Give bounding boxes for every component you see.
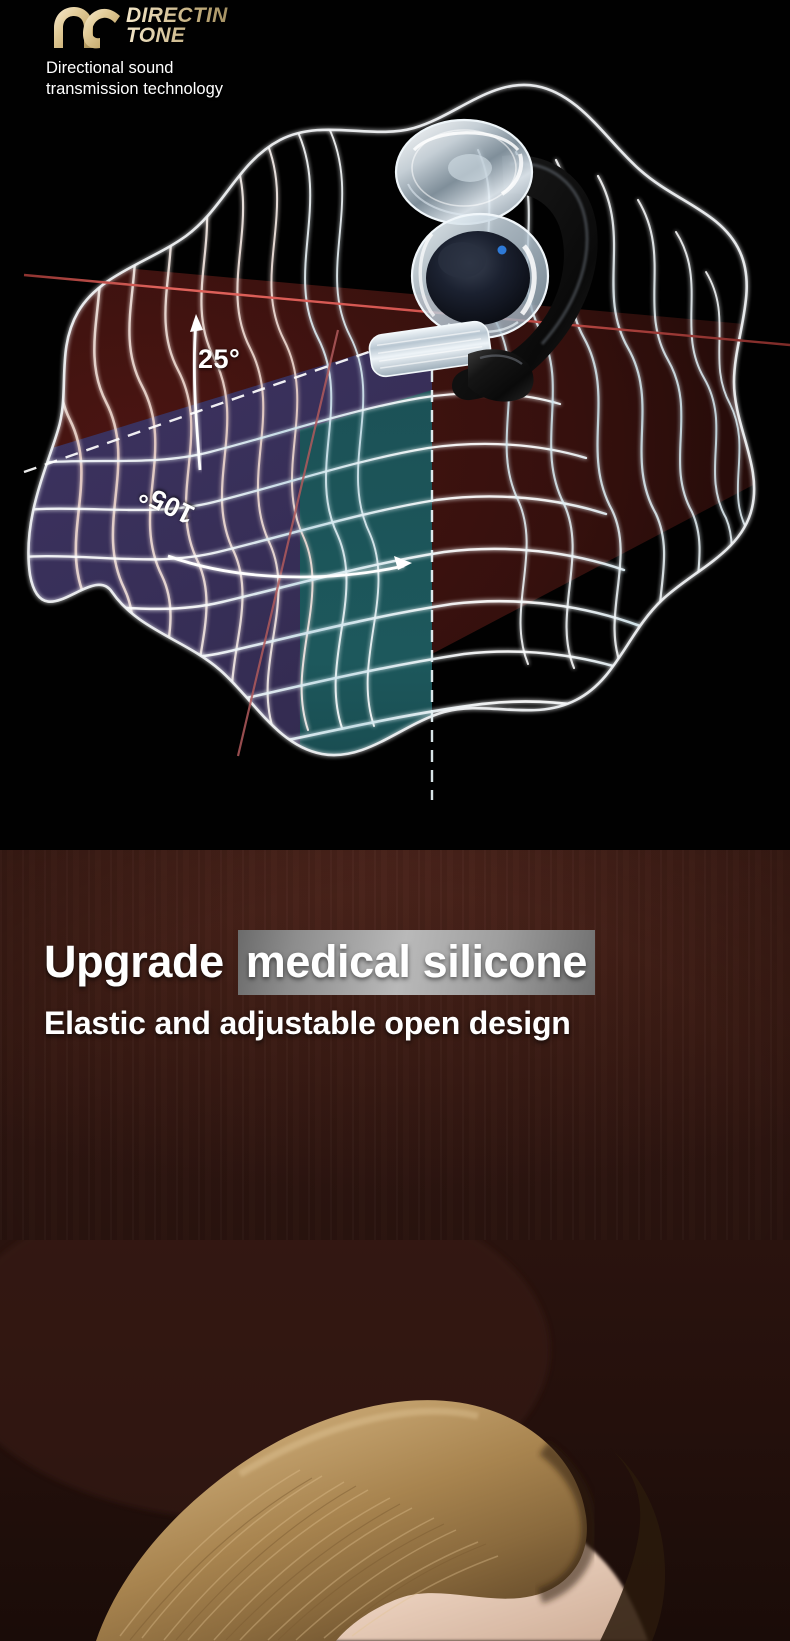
brand-tagline: Directional sound transmission technolog… (46, 58, 223, 100)
angle-label-25: 25° (198, 344, 240, 375)
sound-field-panel: DIRECTIN TONE Directional sound transmis… (0, 0, 790, 850)
driver-diaphragm (426, 231, 530, 325)
subheadline: Elastic and adjustable open design (44, 1004, 571, 1043)
brand-wordmark: DIRECTIN TONE (126, 6, 228, 45)
open-ear-clip-earbud-image (352, 98, 622, 428)
upper-pod (396, 120, 532, 224)
lower-pod (412, 214, 548, 338)
headline-highlighted-text: medical silicone (238, 930, 595, 995)
status-led-icon (498, 246, 507, 255)
headline-plain-text: Upgrade (44, 939, 224, 984)
headline: Upgrade medical silicone (44, 930, 595, 995)
model-photo (0, 1240, 790, 1641)
nc-monogram-icon (50, 4, 122, 50)
brand-lockup: DIRECTIN TONE (46, 2, 228, 50)
